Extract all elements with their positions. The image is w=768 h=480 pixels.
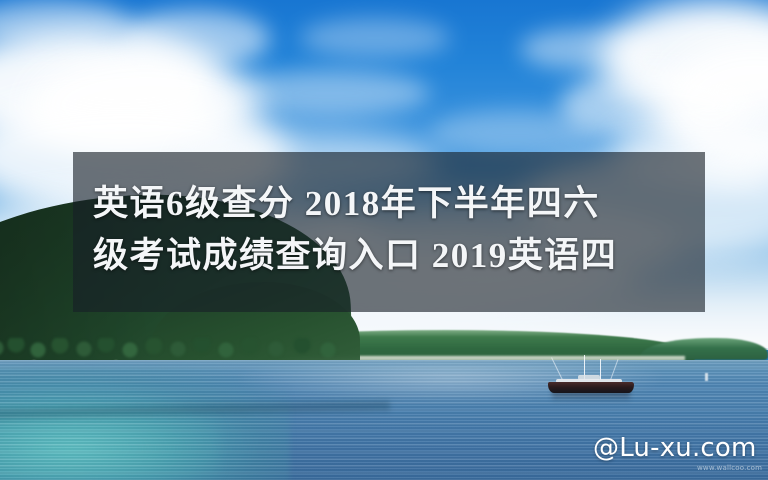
sailboat-rigging [551, 357, 563, 380]
cloud-shape [430, 110, 600, 154]
headline-line-1: 英语6级查分 2018年下半年四六 [93, 186, 693, 221]
sailboat [548, 355, 634, 393]
photo-canvas: 英语6级查分 2018年下半年四六 级考试成绩查询入口 2019英语四 @Lu-… [0, 0, 768, 480]
cloud-shape [300, 18, 450, 58]
cloud-shape [120, 10, 270, 68]
cloud-shape [230, 70, 430, 116]
headline-line-2: 级考试成绩查询入口 2019英语四 [93, 238, 693, 273]
sailboat-rigging [610, 359, 618, 380]
source-watermark: www.wallcoo.com [697, 464, 762, 472]
sailboat-reflection [552, 390, 630, 402]
water-buoy [705, 373, 708, 381]
cloud-shape [520, 28, 650, 70]
headline-overlay-panel [73, 152, 705, 312]
sailboat-mast [600, 359, 601, 380]
site-watermark: @Lu-xu.com [593, 433, 757, 463]
